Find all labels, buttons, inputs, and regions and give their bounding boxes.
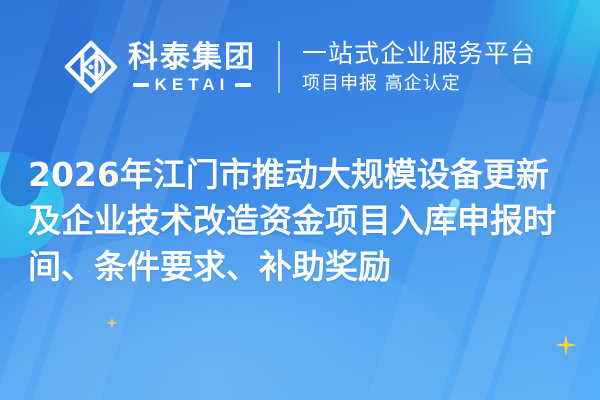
tagline-block: 一站式企业服务平台 项目申报 高企认定 <box>302 40 536 95</box>
header-divider <box>278 41 280 93</box>
dash-right <box>235 83 251 87</box>
brand-lockup: 科泰集团 KETAI <box>64 40 278 94</box>
tagline-main: 一站式企业服务平台 <box>302 40 536 68</box>
sparkle-icon <box>555 334 577 356</box>
sparkle-icon <box>106 317 118 329</box>
ketai-diamond-kt-mark-icon <box>64 40 118 94</box>
dash-left <box>133 83 149 87</box>
tagline-sub: 项目申报 高企认定 <box>302 73 536 95</box>
brand-name-cn: 科泰集团 <box>128 42 256 74</box>
brand-name-en-row: KETAI <box>133 76 252 93</box>
promo-banner: 科泰集团 KETAI 一站式企业服务平台 项目申报 高企认定 2026年江门市推… <box>0 0 600 400</box>
page-title: 2026年江门市推动大规模设备更新及企业技术改造资金项目入库申报时间、条件要求、… <box>28 152 572 291</box>
brand-name-en: KETAI <box>155 76 230 93</box>
brand-wordmark: 科泰集团 KETAI <box>128 42 256 94</box>
banner-header: 科泰集团 KETAI 一站式企业服务平台 项目申报 高企认定 <box>0 40 600 95</box>
